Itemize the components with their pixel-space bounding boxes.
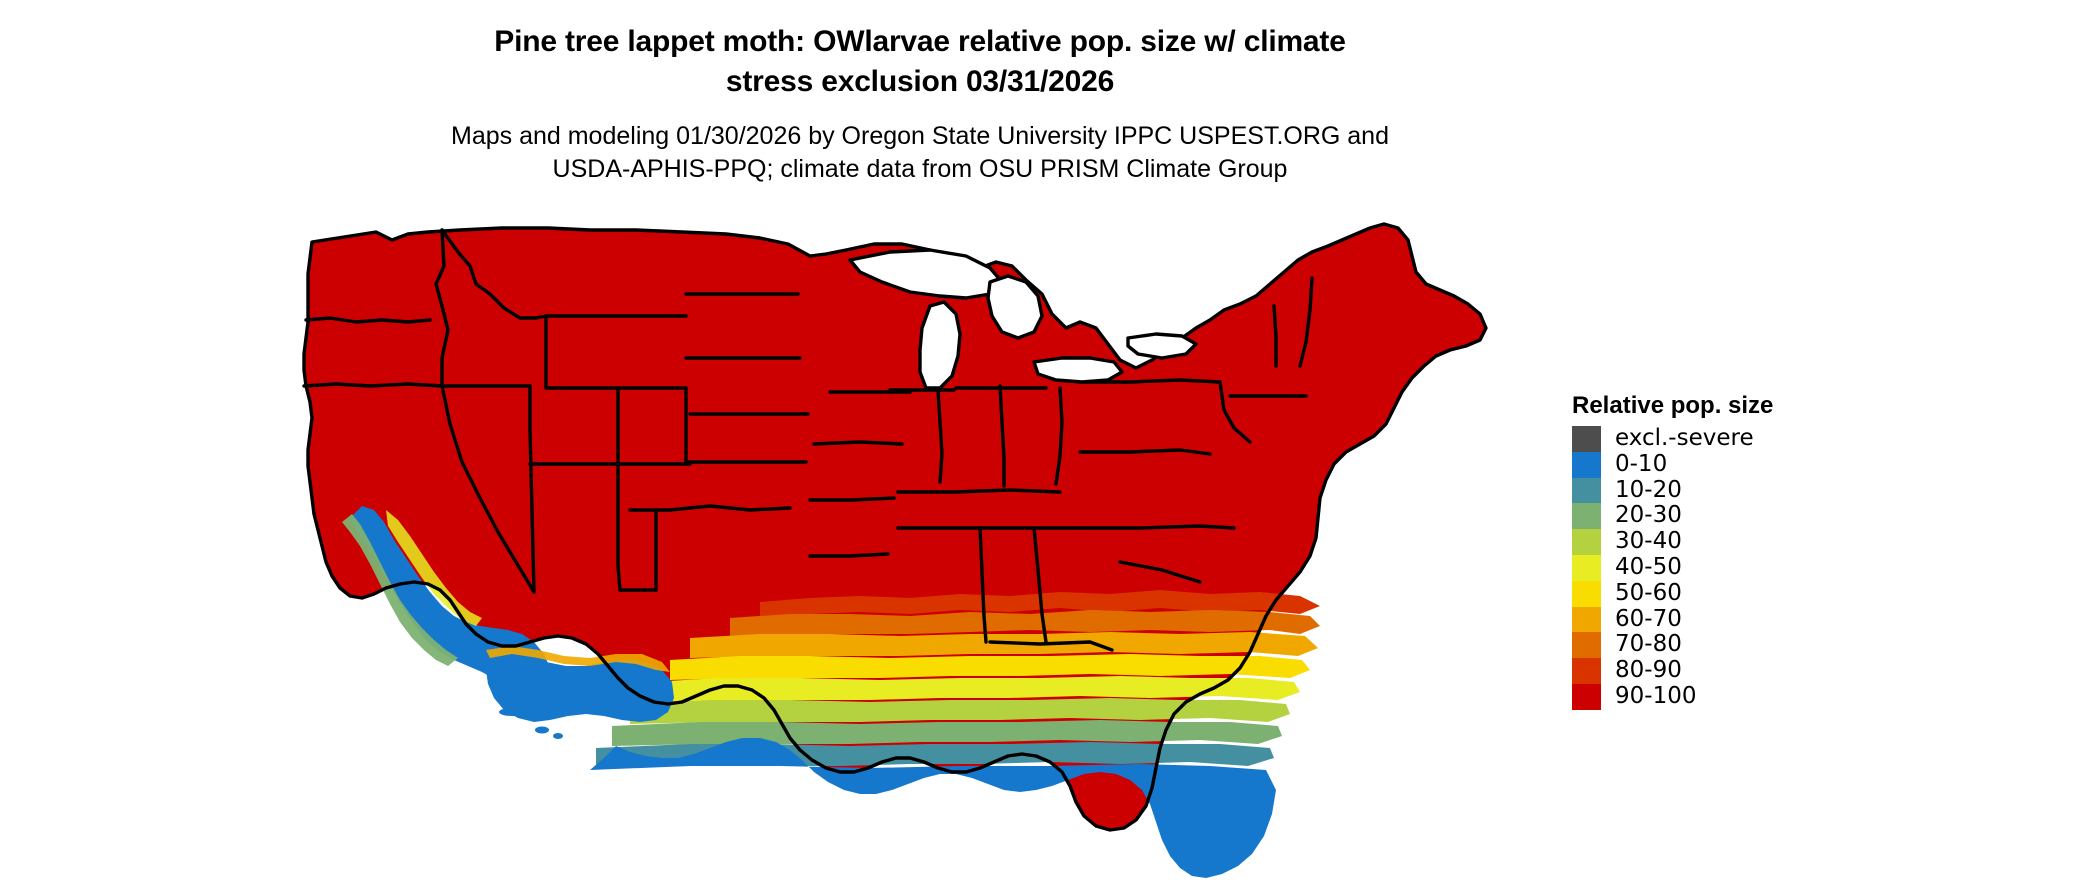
- legend-item[interactable]: 40-50: [1572, 555, 1872, 581]
- legend-item[interactable]: 80-90: [1572, 658, 1872, 684]
- lake-erie: [1034, 358, 1122, 382]
- map-legend: Relative pop. size excl.-severe0-1010-20…: [1572, 392, 1872, 710]
- page-subtitle: Maps and modeling 01/30/2026 by Oregon S…: [0, 120, 1840, 186]
- subtitle-line-2: USDA-APHIS-PPQ; climate data from OSU PR…: [0, 153, 1840, 186]
- legend-swatch: [1572, 632, 1601, 658]
- legend-swatch: [1572, 607, 1601, 633]
- legend-swatch: [1572, 478, 1601, 504]
- us-choropleth-map: [290, 210, 1560, 890]
- legend-item[interactable]: 50-60: [1572, 581, 1872, 607]
- border-mo-ar: [810, 498, 894, 500]
- legend-swatch: [1572, 684, 1601, 710]
- legend-label: 20-30: [1615, 503, 1682, 529]
- legend-label: 90-100: [1615, 684, 1696, 710]
- channel-island-1: [499, 708, 525, 716]
- channel-island-3: [553, 733, 563, 739]
- map-container: [290, 210, 1560, 890]
- border-vt-nh: [1274, 306, 1276, 366]
- legend-label: 0-10: [1615, 452, 1667, 478]
- legend-item[interactable]: 0-10: [1572, 452, 1872, 478]
- map-figure-page: Pine tree lappet moth: OWlarvae relative…: [0, 0, 2100, 892]
- legend-swatch: [1572, 658, 1601, 684]
- border-va-nc: [1080, 526, 1234, 528]
- legend-label: 80-90: [1615, 658, 1682, 684]
- legend-swatch: [1572, 581, 1601, 607]
- title-line-1: Pine tree lappet moth: OWlarvae relative…: [0, 22, 1840, 62]
- legend-swatch: [1572, 555, 1601, 581]
- border-az-nm: [618, 464, 620, 590]
- border-ar-la: [810, 554, 888, 556]
- legend-item[interactable]: 10-20: [1572, 478, 1872, 504]
- legend-item[interactable]: 70-80: [1572, 632, 1872, 658]
- legend-label: excl.-severe: [1615, 426, 1754, 452]
- legend-item[interactable]: excl.-severe: [1572, 426, 1872, 452]
- legend-label: 30-40: [1615, 529, 1682, 555]
- border-ia-mo: [814, 442, 902, 444]
- border-tn-ky: [898, 490, 1060, 492]
- legend-item[interactable]: 90-100: [1572, 684, 1872, 710]
- legend-swatch: [1572, 452, 1601, 478]
- border-or-ca: [304, 384, 442, 386]
- legend-item[interactable]: 20-30: [1572, 503, 1872, 529]
- legend-title: Relative pop. size: [1572, 392, 1872, 420]
- legend-swatch: [1572, 426, 1601, 452]
- legend-item[interactable]: 30-40: [1572, 529, 1872, 555]
- lake-michigan: [920, 302, 960, 388]
- lake-ontario: [1128, 334, 1196, 358]
- legend-label: 70-80: [1615, 632, 1682, 658]
- title-line-2: stress exclusion 03/31/2026: [0, 62, 1840, 102]
- page-title: Pine tree lappet moth: OWlarvae relative…: [0, 22, 1840, 102]
- channel-island-2: [535, 727, 549, 734]
- legend-swatch: [1572, 529, 1601, 555]
- subtitle-line-1: Maps and modeling 01/30/2026 by Oregon S…: [0, 120, 1840, 153]
- legend-swatch: [1572, 503, 1601, 529]
- legend-label: 10-20: [1615, 478, 1682, 504]
- legend-item[interactable]: 60-70: [1572, 607, 1872, 633]
- legend-label: 60-70: [1615, 607, 1682, 633]
- legend-label: 40-50: [1615, 555, 1682, 581]
- legend-rows: excl.-severe0-1010-2020-3030-4040-5050-6…: [1572, 426, 1872, 710]
- legend-label: 50-60: [1615, 581, 1682, 607]
